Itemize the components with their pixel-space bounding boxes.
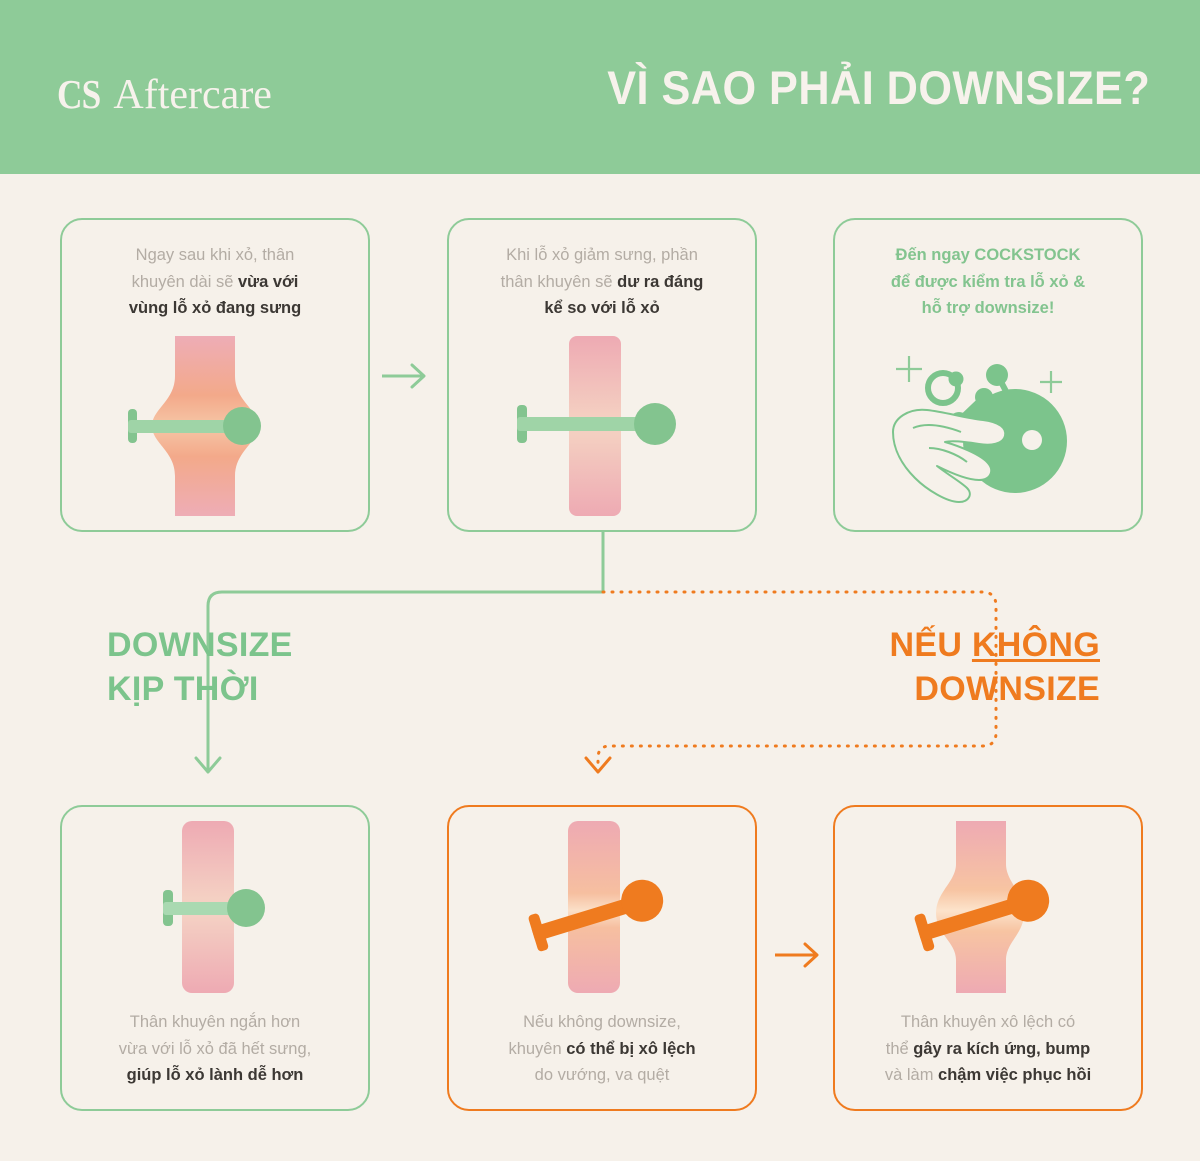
- figure-swollen-fitted: [62, 322, 368, 530]
- arrow-bad1-to-bad2: [775, 944, 817, 966]
- figure-tilted-barbell-bump: [835, 807, 1141, 1009]
- figure-short-barbell-fitted: [62, 807, 368, 1009]
- card-step-3-cta[interactable]: Đến ngay COCKSTOCK để được kiểm tra lỗ x…: [833, 218, 1143, 532]
- logo-mark: CS: [57, 70, 100, 118]
- sparkle-icon: [896, 356, 1062, 393]
- branch-label-no-downsize: NẾU KHÔNG DOWNSIZE: [890, 624, 1101, 711]
- logo-wordmark: Aftercare: [113, 71, 272, 119]
- branch-label-downsize: DOWNSIZE KỊP THỜI: [107, 624, 293, 711]
- card-outcome-good-text: Thân khuyên ngắn hơn vừa với lỗ xỏ đã hế…: [62, 1009, 368, 1089]
- card-step-1-text: Ngay sau khi xỏ, thân khuyên dài sẽ vừa …: [62, 242, 368, 322]
- card-step-2[interactable]: Khi lỗ xỏ giảm sưng, phần thân khuyên sẽ…: [447, 218, 757, 532]
- card-step-3-text: Đến ngay COCKSTOCK để được kiểm tra lỗ x…: [835, 242, 1141, 322]
- card-outcome-bad-2-text: Thân khuyên xô lệch có thể gây ra kích ứ…: [835, 1009, 1141, 1089]
- figure-healed-long-barbell: [449, 322, 755, 530]
- card-outcome-bad-1[interactable]: Nếu không downsize, khuyên có thể bị xô …: [447, 805, 757, 1111]
- page-header: CS Aftercare VÌ SAO PHẢI DOWNSIZE?: [0, 0, 1200, 174]
- card-outcome-bad-2[interactable]: Thân khuyên xô lệch có thể gây ra kích ứ…: [833, 805, 1143, 1111]
- figure-hand-jewelry: [835, 322, 1141, 530]
- card-outcome-bad-1-text: Nếu không downsize, khuyên có thể bị xô …: [449, 1009, 755, 1089]
- brand-logo: CS Aftercare: [57, 70, 272, 119]
- ring-jewelry-icon: [928, 372, 964, 404]
- page-title: VÌ SAO PHẢI DOWNSIZE?: [607, 60, 1150, 115]
- figure-tilted-barbell: [449, 807, 755, 1009]
- card-outcome-good[interactable]: Thân khuyên ngắn hơn vừa với lỗ xỏ đã hế…: [60, 805, 370, 1111]
- card-step-2-text: Khi lỗ xỏ giảm sưng, phần thân khuyên sẽ…: [449, 242, 755, 322]
- card-step-1[interactable]: Ngay sau khi xỏ, thân khuyên dài sẽ vừa …: [60, 218, 370, 532]
- arrow-step1-to-step2: [382, 365, 424, 387]
